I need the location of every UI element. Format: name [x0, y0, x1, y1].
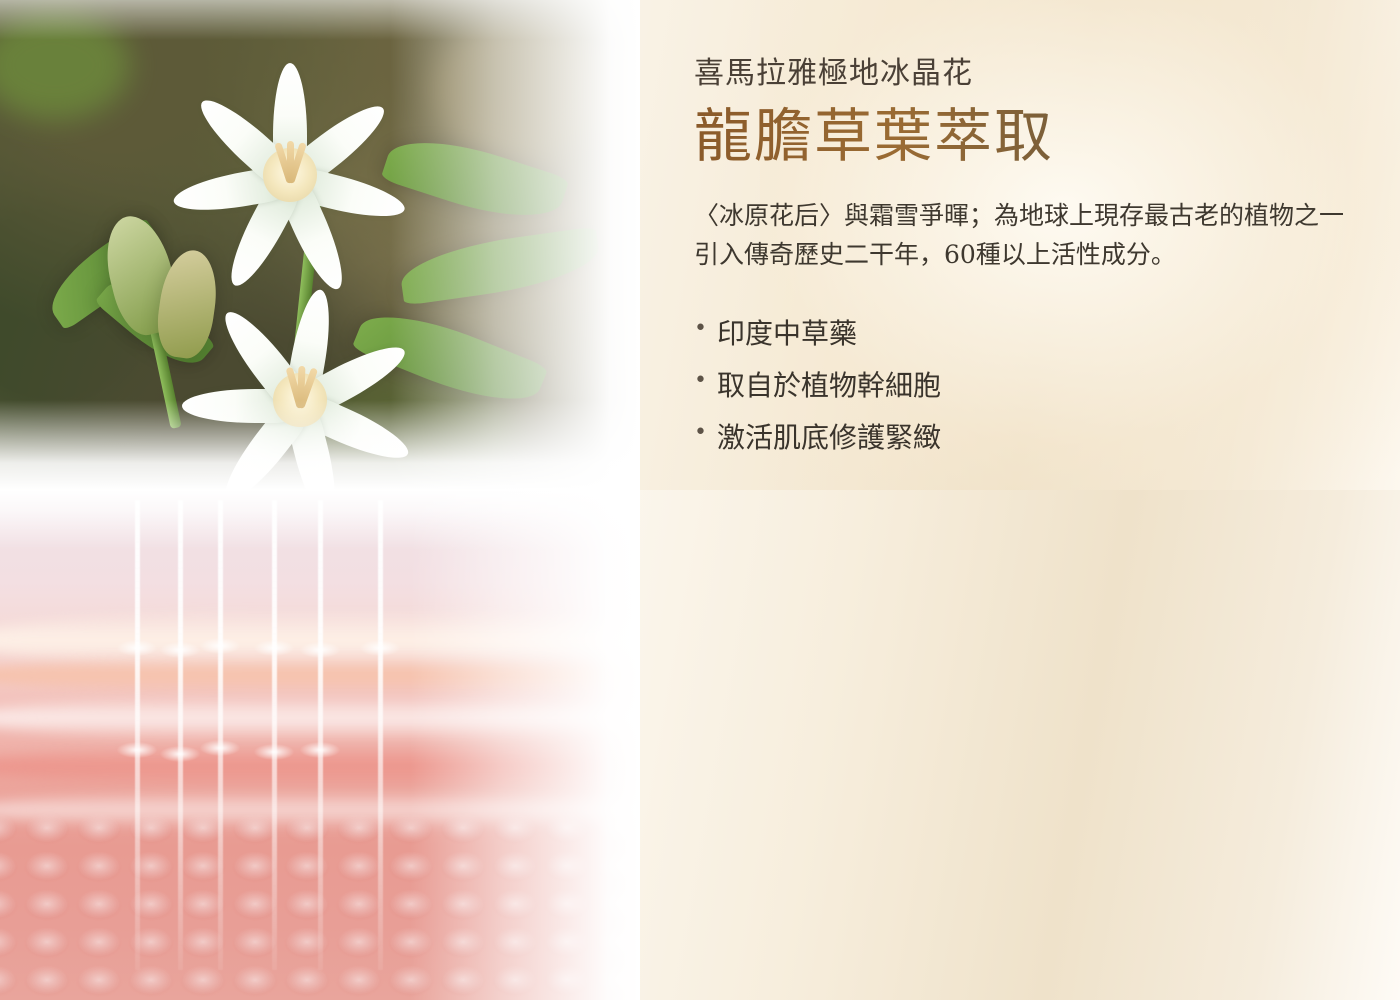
light-node	[160, 746, 200, 762]
list-item: • 印度中草藥	[694, 308, 1374, 360]
light-ray	[318, 500, 323, 970]
light-ray	[178, 500, 183, 970]
gentian-eyebrow: 喜馬拉雅極地冰晶花	[694, 56, 1374, 92]
light-node	[117, 640, 157, 656]
light-node	[117, 742, 157, 758]
light-node	[360, 640, 400, 656]
page-root: 喜馬拉雅極地冰晶花 龍膽草葉萃取 〈冰原花后〉與霜雪爭暉；為地球上現存最古老的植…	[0, 0, 1400, 1000]
list-item: • 取自於植物幹細胞	[694, 360, 1374, 412]
list-item-label: 印度中草藥	[717, 308, 857, 360]
skin-layers-illustration	[0, 490, 640, 1000]
gentian-flower-photo	[0, 0, 640, 490]
light-node	[300, 642, 340, 658]
list-item-label: 取自於植物幹細胞	[717, 360, 941, 412]
light-node	[254, 744, 294, 760]
light-ray	[135, 500, 140, 970]
light-node	[300, 742, 340, 758]
gentian-bullet-list: • 印度中草藥 • 取自於植物幹細胞 • 激活肌底修護緊緻	[694, 308, 1374, 463]
bullet-dot-icon: •	[694, 412, 707, 455]
light-node	[200, 638, 240, 654]
light-node	[200, 740, 240, 756]
list-item: • 激活肌底修護緊緻	[694, 412, 1374, 464]
light-node	[254, 640, 294, 656]
section-gentian: 喜馬拉雅極地冰晶花 龍膽草葉萃取 〈冰原花后〉與霜雪爭暉；為地球上現存最古老的植…	[0, 0, 1400, 490]
gentian-headline: 龍膽草葉萃取	[694, 106, 1374, 167]
bullet-dot-icon: •	[694, 360, 707, 403]
gentian-text-block: 喜馬拉雅極地冰晶花 龍膽草葉萃取 〈冰原花后〉與霜雪爭暉；為地球上現存最古老的植…	[694, 56, 1374, 464]
list-item-label: 激活肌底修護緊緻	[717, 412, 941, 464]
light-ray	[378, 500, 383, 970]
light-ray	[218, 500, 223, 970]
light-ray	[272, 500, 277, 970]
section-egf: 來自圓葉菸草萃取 EGF 因子 • 撫平皺紋 • 淡化斑點 • 改善粗糙	[0, 490, 1400, 1000]
gentian-body-text: 〈冰原花后〉與霜雪爭暉；為地球上現存最古老的植物之一 引入傳奇歷史二干年，60種…	[694, 197, 1374, 275]
bullet-dot-icon: •	[694, 308, 707, 351]
photo-right-fade	[390, 0, 640, 490]
light-node	[160, 642, 200, 658]
skin-right-fade	[410, 490, 640, 1000]
